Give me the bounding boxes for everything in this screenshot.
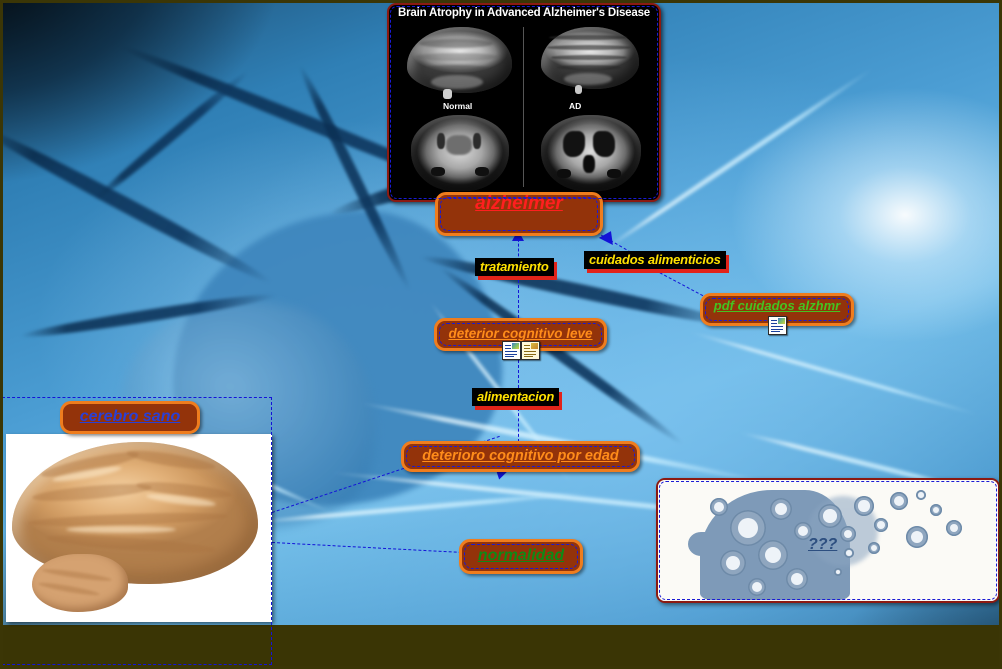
edge-spine-4: [518, 408, 519, 442]
node-alzheimer[interactable]: alzheimer: [435, 192, 603, 236]
edge-spine-3: [518, 360, 519, 388]
node-cerebro-sano-label: cerebro sano: [80, 409, 180, 426]
node-deterioro-cognitivo-por-edad-label: deterioro cognitivo por edad: [422, 449, 619, 464]
node-alzheimer-label: alzheimer: [475, 194, 563, 214]
divider: [523, 27, 524, 187]
brain-atrophy-image[interactable]: Brain Atrophy in Advanced Alzheimer's Di…: [387, 3, 661, 202]
node-normalidad-label: normalidad: [478, 548, 564, 565]
arrowhead-pdf-to-alzheimer: [598, 231, 613, 247]
question-marks: ???: [808, 536, 837, 554]
link-label-alimentacion[interactable]: alimentacion: [472, 388, 559, 406]
resource-icon[interactable]: [521, 341, 540, 360]
concept-map-canvas[interactable]: Brain Atrophy in Advanced Alzheimer's Di…: [0, 0, 1002, 669]
link-label-tratamiento[interactable]: tratamiento: [475, 258, 554, 276]
node-deterior-cognitivo-leve-label: deterior cognitivo leve: [448, 327, 592, 341]
node-normalidad[interactable]: normalidad: [459, 539, 583, 574]
link-label-cuidados-alimenticios[interactable]: cuidados alimenticios: [584, 251, 726, 269]
link-label-alimentacion-text: alimentacion: [477, 389, 554, 404]
caption-normal: Normal: [443, 101, 472, 111]
gear-head-image[interactable]: ???: [656, 478, 1000, 603]
link-label-tratamiento-text: tratamiento: [480, 259, 549, 274]
edge-spine-2: [518, 280, 519, 318]
brain-atrophy-title: Brain Atrophy in Advanced Alzheimer's Di…: [389, 7, 659, 19]
link-label-cuidados-alimenticios-text: cuidados alimenticios: [589, 252, 721, 267]
node-cerebro-sano[interactable]: cerebro sano: [60, 401, 200, 434]
ad-coronal-slice: [541, 115, 641, 191]
node-pdf-cuidados-alzhmr-label: pdf cuidados alzhmr: [714, 299, 840, 313]
resource-icon[interactable]: [502, 341, 521, 360]
cerebro-sano-selection: [2, 397, 272, 665]
resource-icon[interactable]: [768, 316, 787, 335]
node-deterioro-cognitivo-por-edad[interactable]: deterioro cognitivo por edad: [401, 441, 640, 472]
caption-ad: AD: [569, 101, 581, 111]
